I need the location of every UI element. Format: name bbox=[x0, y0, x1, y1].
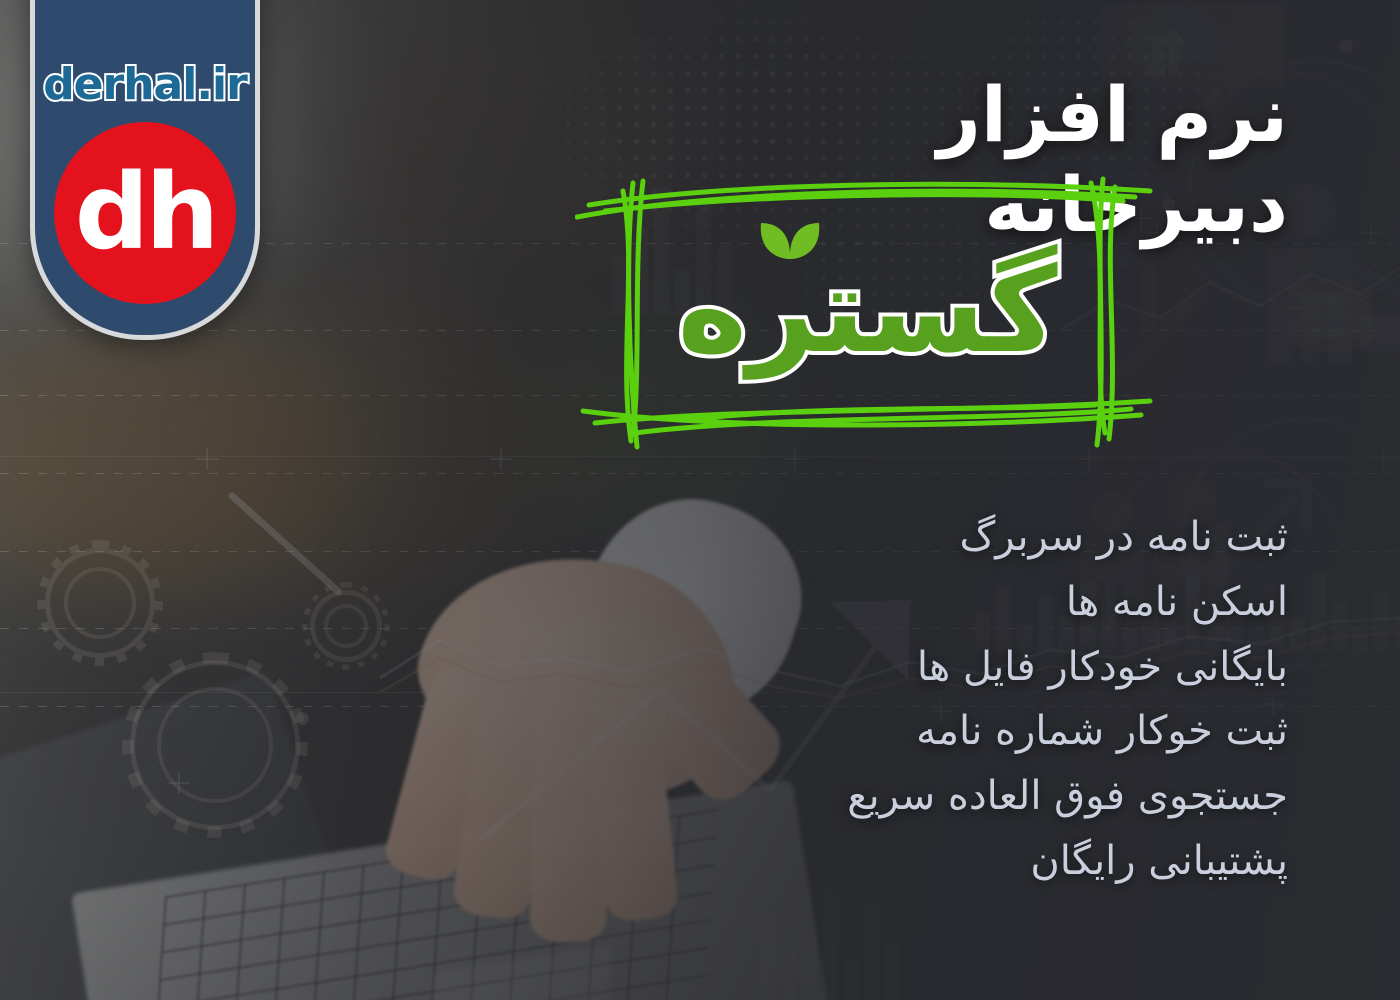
list-item: ثبت نامه در سربرگ bbox=[668, 505, 1288, 570]
list-item: پشتیبانی رایگان bbox=[668, 829, 1288, 894]
feature-list: ثبت نامه در سربرگ اسکن نامه ها بایگانی خ… bbox=[668, 505, 1288, 894]
list-item: جستجوی فوق العاده سریع bbox=[668, 764, 1288, 829]
logo-badge[interactable]: derhal.ir dh bbox=[30, 0, 260, 340]
brand-logo-block: گستره bbox=[575, 175, 1160, 450]
promo-banner: derhal.ir dh نرم افزار دبیرخانه bbox=[0, 0, 1400, 1000]
list-item: اسکن نامه ها bbox=[668, 570, 1288, 635]
logo-monogram: dh bbox=[75, 171, 215, 254]
sprout-leaf-icon bbox=[757, 215, 823, 263]
brand-name: گستره bbox=[575, 175, 1160, 450]
logo-circle: dh bbox=[54, 122, 236, 304]
logo-wordmark: derhal.ir bbox=[43, 59, 247, 110]
list-item: بایگانی خودکار فایل ها bbox=[668, 635, 1288, 700]
list-item: ثبت خوکار شماره نامه bbox=[668, 699, 1288, 764]
